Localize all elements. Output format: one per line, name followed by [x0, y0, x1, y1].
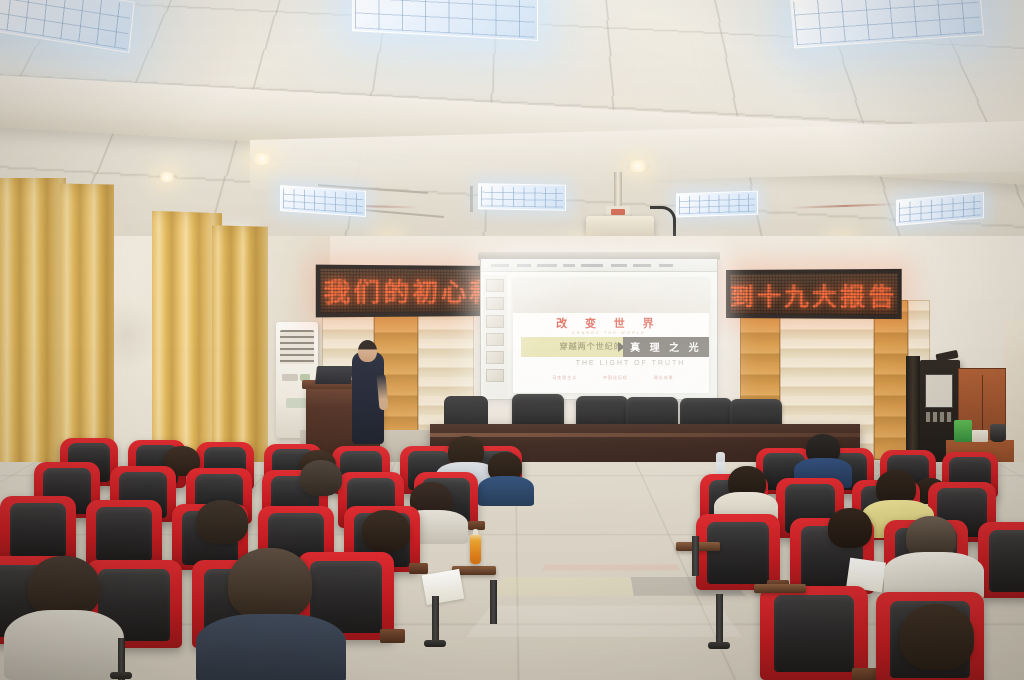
auditorium-seat[interactable]: [978, 522, 1024, 598]
attendee-shoulders: [196, 614, 346, 680]
curtain-panel: [212, 225, 268, 476]
slide-thumbnail[interactable]: [486, 297, 504, 310]
air-conditioner-vents: [280, 330, 314, 364]
seat-foot: [110, 672, 132, 679]
air-conditioner-display: [282, 374, 298, 381]
ceiling-rail: [470, 186, 473, 212]
rack-buttons[interactable]: [926, 412, 952, 422]
slide-title-cn: 改 变 世 界: [556, 315, 661, 331]
ceiling-downlight: [626, 160, 650, 172]
attendee-head: [362, 510, 410, 552]
electric-kettle: [990, 424, 1006, 442]
slide-footer-item: 中国化历程: [603, 375, 628, 381]
green-bag: [954, 420, 972, 442]
attendee-shoulders: [4, 610, 124, 680]
led-banner-right-text: 到十九大报告: [730, 276, 897, 313]
ceiling-downlight: [157, 172, 177, 182]
rack-panel: [925, 374, 953, 408]
presidium-chair: [512, 394, 564, 428]
slide-canvas: 改 变 世 界 CHANGE THE WORLD 穿越两个世纪的 真 理 之 光…: [513, 279, 709, 393]
conference-hall-photo: 我们的初心和 到十九大报告 改 变 世 界 CHANGE THE WORLD 穿…: [0, 0, 1024, 680]
attendee-head: [28, 556, 100, 618]
slide-footer-item: 理论成果: [654, 375, 674, 381]
water-bottle: [716, 452, 725, 476]
seat-foot: [424, 640, 446, 647]
slide-thumbnail[interactable]: [486, 333, 504, 346]
attendee-head: [228, 548, 312, 620]
attendee-head: [900, 604, 974, 670]
slide-band-dark-text: 真 理 之 光: [630, 339, 701, 354]
slide-thumbnail[interactable]: [486, 351, 504, 364]
slide-thumbnail[interactable]: [486, 315, 504, 328]
ceiling-panel-light: [478, 183, 566, 211]
seat-foot: [708, 642, 730, 649]
powerpoint-toolbar: [481, 259, 717, 272]
seat-leg: [432, 596, 439, 646]
led-banner-left: 我们的初心和: [316, 265, 490, 318]
presenter-head: [358, 340, 377, 362]
paper-cups: [972, 430, 988, 442]
slide-footer-item: 马克思主义: [552, 375, 577, 381]
podium-laptop: [315, 366, 353, 384]
attendee-head: [300, 460, 342, 496]
seat-tablet-arm: [754, 584, 806, 593]
slide-thumbnail-panel[interactable]: [483, 275, 507, 397]
auditorium-seat[interactable]: [86, 500, 162, 566]
projection-screen: 改 变 世 界 CHANGE THE WORLD 穿越两个世纪的 真 理 之 光…: [480, 258, 718, 400]
curtain-panel: [60, 184, 114, 481]
ceiling-panel-light: [676, 191, 758, 218]
seat-leg: [490, 580, 497, 624]
attendee-shoulders: [478, 476, 534, 506]
slide-band-yellow: 穿越两个世纪的: [521, 337, 629, 356]
slide-band-dark: 真 理 之 光: [623, 337, 709, 356]
slide-subtitle-en: THE LIGHT OF TRUTH: [576, 360, 686, 367]
juice-bottle: [470, 534, 481, 564]
slide-title-en: CHANGE THE WORLD: [572, 330, 646, 335]
attendee-head: [828, 508, 872, 548]
auditorium-seat[interactable]: [696, 514, 780, 590]
ceiling-downlight: [250, 153, 274, 165]
attendee-head: [196, 500, 248, 544]
slide-footer: 马克思主义 中国化历程 理论成果: [552, 375, 674, 381]
slide-header-image: [513, 279, 709, 313]
air-conditioner-grill: [286, 398, 308, 408]
wall-wood-panel: [874, 300, 908, 460]
seat-leg: [692, 536, 699, 576]
curtain-panel: [0, 178, 66, 478]
led-banner-left-text: 我们的初心和: [323, 272, 490, 310]
seat-leg: [716, 594, 723, 648]
slide-thumbnail[interactable]: [486, 369, 504, 382]
auditorium-seat[interactable]: [0, 496, 76, 562]
led-banner-right: 到十九大报告: [726, 269, 902, 319]
auditorium-seat[interactable]: [760, 586, 868, 680]
slide-thumbnail[interactable]: [486, 279, 504, 292]
